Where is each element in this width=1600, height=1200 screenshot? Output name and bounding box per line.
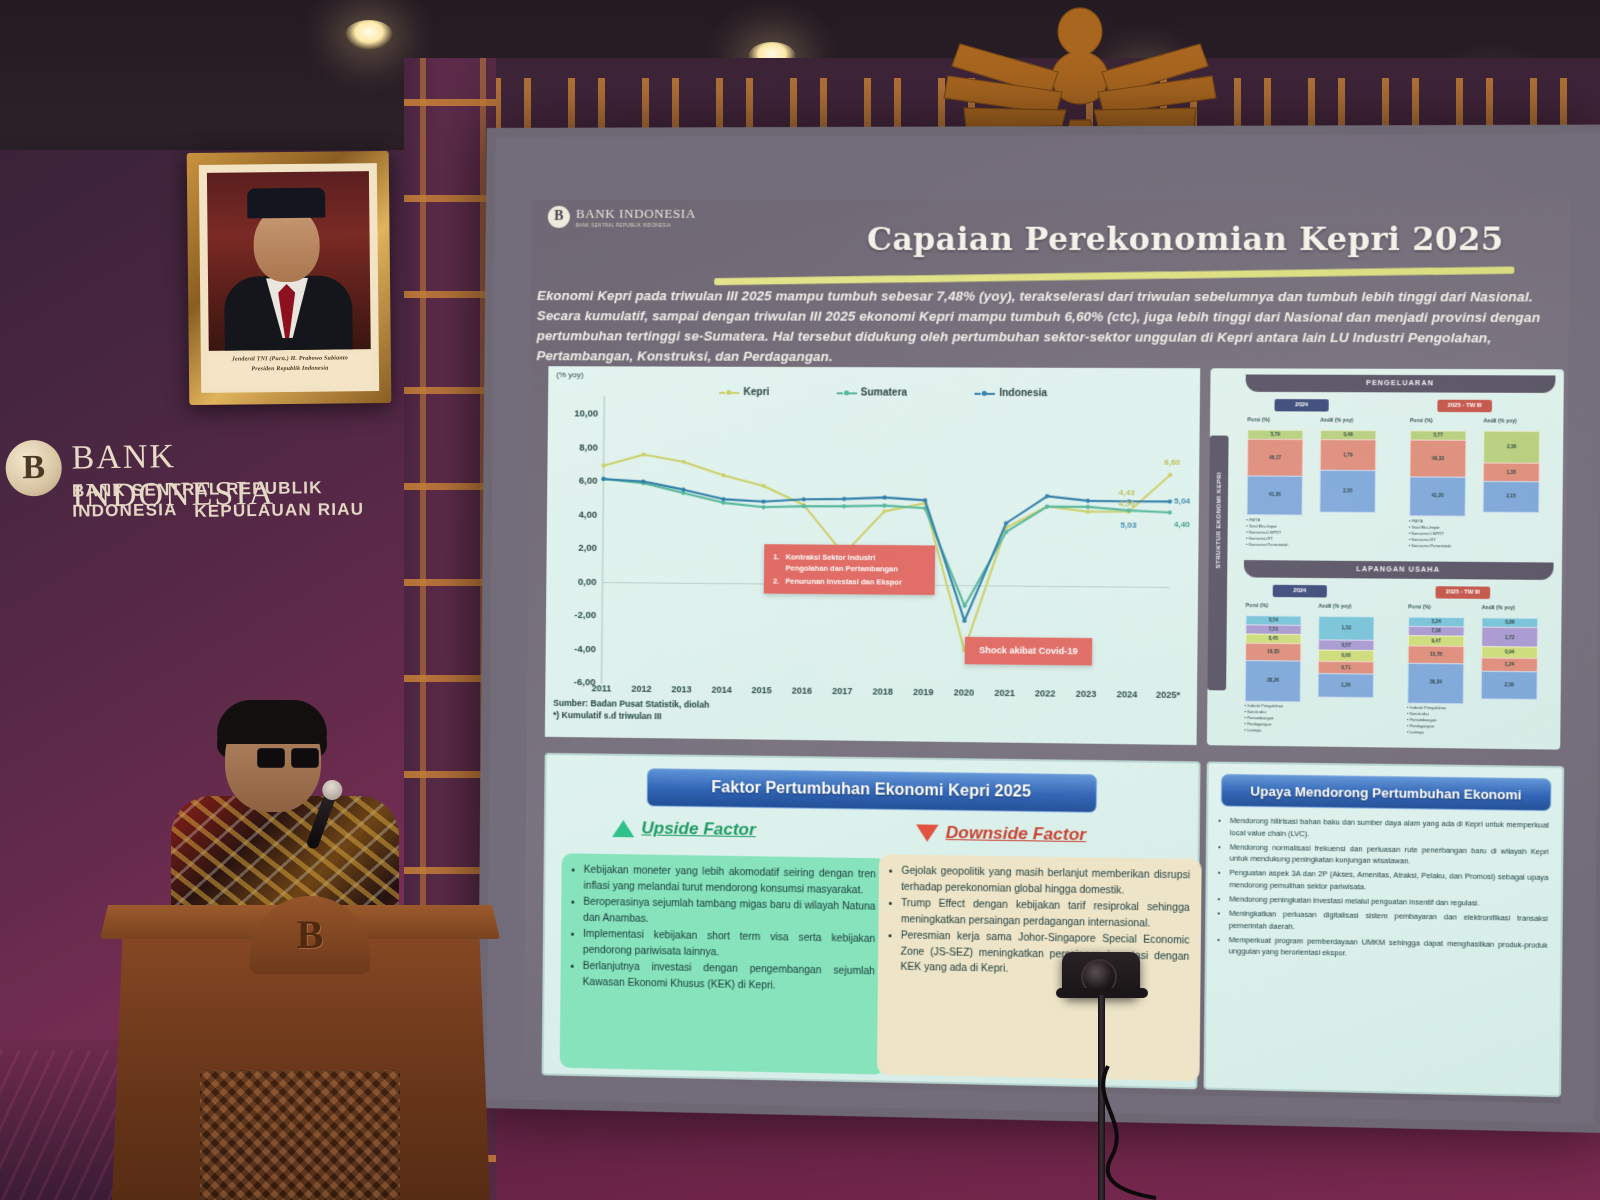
structure-legend-item: ▪ Total Eks-Impor: [1246, 523, 1277, 528]
stack-segment-label: 2,36: [1482, 672, 1537, 699]
upside-factor-heading: Upside Factor: [612, 818, 756, 840]
data-point: [761, 505, 765, 509]
data-point: [681, 460, 685, 464]
annotation-kontraksi-num1: 1.: [772, 550, 785, 574]
downside-factor-item: Gejolak geopolitik yang masih berlanjut …: [901, 864, 1190, 900]
data-point: [842, 497, 846, 501]
stack-segment: 1,26: [1317, 673, 1374, 698]
data-point: [802, 497, 806, 501]
downside-factor-list: Gejolak geopolitik yang masih berlanjut …: [889, 863, 1190, 980]
stack-segment: 2,15: [1483, 481, 1540, 513]
structure-legend: ▪ PMTB▪ Total Eks-Impor▪ Konsumsi LNPRT▪…: [1246, 517, 1392, 549]
stack-segment: 2,36: [1481, 671, 1538, 700]
data-point: [601, 477, 605, 481]
end-value-label: 5,03: [1120, 521, 1137, 530]
upside-factor-box: Kebijakan moneter yang lebih akomodatif …: [560, 853, 888, 1074]
stack-segment-label: 40,17: [1248, 440, 1302, 477]
annotation-kontraksi-text1: Kontraksi Sektor Industri Pengolahan dan…: [784, 550, 903, 575]
upside-factor-item: Kebijakan moneter yang lebih akomodatif …: [583, 863, 875, 899]
data-point: [642, 452, 646, 456]
efforts-item: Meningkatkan perluasan digitalisasi sist…: [1229, 908, 1548, 937]
annotation-kontraksi-num2: 2.: [772, 574, 784, 587]
data-point: [882, 509, 886, 513]
data-point: [1086, 499, 1090, 503]
end-value-label: 4,43: [1119, 488, 1136, 497]
stack-segment-label: 1,33: [1319, 617, 1373, 641]
annotation-kontraksi-text2: Penurunan Investasi dan Ekspor: [784, 575, 903, 589]
data-point: [681, 488, 685, 492]
y-axis-line: [602, 396, 605, 683]
downside-triangle-icon: [916, 824, 939, 842]
annotation-kontraksi: 1. Kontraksi Sektor Industri Pengolahan …: [764, 544, 935, 595]
end-value-label: 4,40: [1174, 520, 1191, 529]
period-chip: 2025 - TW III: [1437, 400, 1492, 413]
mini-axis-label: Andil (% yoy): [1320, 418, 1353, 424]
glasses-right-lens: [291, 748, 319, 768]
growth-factors-header: Faktor Pertumbuhan Ekonomi Kepri 2025: [647, 768, 1097, 813]
structure-legend-item: ▪ Lainnya: [1407, 729, 1424, 734]
structure-legend-item: ▪ Pertambangan: [1407, 717, 1436, 722]
stack-segment-label: 2,15: [1484, 482, 1539, 512]
structure-legend-item: ▪ Konsumsi Pemerintah: [1246, 542, 1288, 547]
stack-segment: 1,79: [1320, 439, 1377, 472]
stack-segment: 41,36: [1246, 475, 1303, 515]
efforts-item: Memperkuat program pemberdayaan UMKM seh…: [1229, 934, 1548, 963]
upside-factor-item: Implementasi kebijakan short term visa s…: [583, 927, 875, 963]
stack-segment-label: 1,35: [1484, 464, 1539, 483]
stack-segment-label: 2,35: [1320, 471, 1375, 512]
stack-segment-label: 1,72: [1482, 628, 1537, 648]
mini-axis-label: Porsi (%): [1408, 604, 1431, 610]
data-point: [962, 619, 966, 623]
annotation-covid: Shock akibat Covid-19: [965, 637, 1093, 666]
structure-legend: ▪ Industri Pengolahan▪ Konstruksi▪ Perta…: [1407, 705, 1554, 738]
stack-segment: 2,36: [1483, 431, 1540, 466]
mini-axis-label: Porsi (%): [1247, 417, 1270, 423]
data-point: [1086, 510, 1090, 514]
structure-legend-item: ▪ Perdagangan: [1407, 723, 1434, 728]
upside-factor-label: Upside Factor: [641, 818, 756, 840]
downside-factor-box: Gejolak geopolitik yang masih berlanjut …: [877, 854, 1202, 1081]
stack-segment-label: 38,26: [1246, 661, 1300, 702]
structure-legend-item: ▪ Lainnya: [1244, 727, 1261, 732]
data-point: [882, 495, 886, 499]
portrait-caption-role: Presiden Republik Indonesia: [209, 363, 371, 375]
slide-brand-subtitle: BANK SENTRAL REPUBLIK INDONESIA: [576, 223, 696, 228]
presidential-portrait-frame: Jenderal TNI (Purn.) H. Prabowo Subianto…: [187, 151, 392, 405]
mini-axis-label: Andil (% yoy): [1318, 604, 1351, 610]
structure-legend-item: ▪ Konsumsi RT: [1409, 537, 1436, 542]
end-value-label: 6,60: [1164, 458, 1181, 467]
period-chip: 2024: [1275, 399, 1329, 411]
data-point: [1004, 530, 1008, 534]
period-chip: 2025 - TW III: [1436, 586, 1491, 599]
structure-legend-item: ▪ Industri Pengolahan: [1245, 703, 1284, 709]
stack-segment-label: 40,33: [1411, 441, 1466, 478]
structure-legend-item: ▪ PMTB: [1246, 517, 1260, 522]
stack-segment: 41,20: [1409, 476, 1466, 516]
upside-triangle-icon: [612, 819, 634, 836]
upside-factor-item: Beroperasinya sejumlah tambang migas bar…: [583, 895, 875, 931]
data-point: [1045, 505, 1049, 509]
stack-segment: 40,17: [1247, 439, 1304, 478]
end-value-label: 4,50: [1119, 499, 1136, 508]
efforts-item: Mendorong hilirisasi bahan baku dan sumb…: [1230, 815, 1549, 843]
structure-legend-item: ▪ Konsumsi Pemerintah: [1409, 543, 1452, 548]
data-point: [923, 498, 927, 502]
slide-lead-paragraph: Ekonomi Kepri pada triwulan III 2025 mam…: [536, 286, 1564, 369]
stack-segment: 40,33: [1409, 440, 1466, 479]
economic-structure-panel: STRUKTUR EKONOMI KEPRI PENGELUARAN2024Po…: [1207, 368, 1564, 749]
structure-vertical-tab: STRUKTUR EKONOMI KEPRI: [1207, 435, 1228, 690]
podium-monogram: B: [250, 896, 370, 974]
structure-legend-item: ▪ PMTB: [1409, 518, 1423, 523]
stack-segment-label: 16,35: [1246, 644, 1300, 662]
data-point: [1168, 499, 1172, 503]
upside-factor-list: Kebijakan moneter yang lebih akomodatif …: [571, 862, 875, 995]
bank-indonesia-wall-logo: B BANK INDONESIA BANK SENTRAL REPUBLIK I…: [5, 429, 367, 546]
data-point: [721, 497, 725, 501]
efforts-panel: Upaya Mendorong Pertumbuhan Ekonomi Mend…: [1204, 761, 1565, 1097]
chart-source: Sumber: Badan Pusat Statistik, diolah *)…: [553, 697, 709, 723]
data-point: [882, 503, 886, 507]
bi-monogram: B: [5, 440, 62, 497]
stack-segment-label: 15,78: [1409, 646, 1464, 664]
structure-sections: PENGELUARAN2024Porsi (%)5,7940,1741,36An…: [1211, 368, 1564, 369]
stack-segment-label: 41,20: [1410, 477, 1465, 515]
structure-legend-item: ▪ Konsumsi LNPRT: [1246, 529, 1281, 534]
downside-factor-item: Peresmian kerja sama Johor-Singapore Spe…: [900, 928, 1189, 980]
speaker-glasses-icon: [257, 748, 319, 766]
efforts-item: Mendorong normalisasi frekuensi dan perl…: [1230, 841, 1549, 870]
camera-cable: [1060, 1060, 1230, 1200]
slide-brand-name: BANK INDONESIA: [576, 206, 696, 222]
stack-segment-label: 2,36: [1484, 432, 1539, 465]
stack-segment: 1,33: [1318, 616, 1375, 642]
structure-legend-item: ▪ Konstruksi: [1245, 709, 1266, 714]
stack-segment-label: 1,79: [1321, 440, 1376, 471]
speaker-hair-top: [217, 700, 327, 744]
portrait-peci: [247, 188, 325, 219]
structure-legend-item: ▪ Konstruksi: [1407, 711, 1429, 716]
structure-section-header: PENGELUARAN: [1246, 374, 1556, 392]
end-value-label: 5,04: [1174, 496, 1191, 505]
mini-axis-label: Porsi (%): [1410, 418, 1433, 424]
structure-legend-item: ▪ Total Eks-Impor: [1409, 525, 1440, 530]
efforts-item: Penguatan aspek 3A dan 2P (Akses, Amenit…: [1229, 867, 1548, 896]
structure-legend-item: ▪ Perdagangan: [1244, 721, 1271, 726]
chart-source-line2: *) Kumulatif s.d triwulan III: [553, 709, 709, 723]
presentation-room-photo: Jenderal TNI (Purn.) H. Prabowo Subianto…: [0, 0, 1600, 1200]
downside-factor-heading: Downside Factor: [916, 822, 1086, 845]
portrait-caption: Jenderal TNI (Purn.) H. Prabowo Subianto…: [209, 353, 371, 387]
period-chip: 2024: [1273, 585, 1327, 598]
portrait-image: [207, 171, 371, 351]
upside-factor-item: Berlanjutnya investasi dengan pengembang…: [583, 959, 875, 996]
structure-vertical-tab-label: STRUKTUR EKONOMI KEPRI: [1214, 550, 1221, 568]
efforts-list: Mendorong hilirisasi bahan baku dan sumb…: [1217, 815, 1549, 964]
data-point: [1127, 508, 1131, 512]
slide-brand-mark: B BANK INDONESIA BANK SENTRAL REPUBLIK I…: [548, 206, 696, 228]
structure-legend-item: ▪ Pertambangan: [1244, 715, 1273, 720]
data-point: [842, 504, 846, 508]
data-point: [1086, 505, 1090, 509]
data-point: [761, 499, 765, 503]
title-underline-rule: [714, 266, 1514, 285]
mini-axis-label: Andil (% yoy): [1483, 418, 1516, 424]
data-point: [1004, 521, 1008, 525]
structure-legend-item: ▪ Konsumsi LNPRT: [1409, 531, 1444, 536]
projection-screen: B BANK INDONESIA BANK SENTRAL REPUBLIK I…: [477, 125, 1600, 1133]
growth-line-chart: (% yoy) KepriSumateraIndonesia 10,008,00…: [545, 366, 1200, 745]
downside-factor-label: Downside Factor: [946, 823, 1087, 845]
structure-legend-item: ▪ Industri Pengolahan: [1407, 705, 1446, 711]
data-point: [721, 473, 725, 477]
stack-segment: 2,35: [1319, 470, 1376, 513]
podium-crest: B: [250, 896, 370, 974]
structure-section-header: LAPANGAN USAHA: [1244, 560, 1554, 580]
data-point: [641, 479, 645, 483]
wall-logo-line3: KEPULAUAN RIAU: [194, 500, 364, 522]
data-point: [1168, 473, 1172, 477]
data-point: [1168, 510, 1172, 514]
mini-axis-label: Porsi (%): [1246, 603, 1269, 609]
video-camera: [1062, 952, 1140, 998]
stack-segment: 38,26: [1245, 660, 1302, 703]
stack-segment: 36,34: [1407, 662, 1464, 704]
bi-seal-icon: B: [5, 440, 62, 497]
structure-legend: ▪ Industri Pengolahan▪ Konstruksi▪ Perta…: [1244, 703, 1390, 735]
downside-factor-item: Trump Effect dengan kebijakan tarif resi…: [901, 896, 1190, 932]
podium-carved-panel: [200, 1070, 400, 1200]
structure-legend: ▪ PMTB▪ Total Eks-Impor▪ Konsumsi LNPRT▪…: [1409, 518, 1556, 550]
stack-segment-label: 36,34: [1408, 663, 1463, 703]
glasses-left-lens: [257, 748, 285, 768]
data-point: [762, 484, 766, 488]
data-point: [1045, 494, 1049, 498]
efforts-panel-header: Upaya Mendorong Pertumbuhan Ekonomi: [1221, 774, 1552, 811]
data-point: [962, 604, 966, 608]
stack-segment-label: 1,26: [1319, 674, 1373, 697]
slide-title: Capaian Perekonomian Kepri 2025: [834, 221, 1538, 258]
mini-axis-label: Andil (% yoy): [1482, 605, 1515, 611]
slide-canvas: B BANK INDONESIA BANK SENTRAL REPUBLIK I…: [524, 199, 1570, 1104]
stack-segment-label: 41,36: [1248, 476, 1302, 514]
portrait-mat: Jenderal TNI (Purn.) H. Prabowo Subianto…: [199, 163, 379, 393]
structure-legend-item: ▪ Konsumsi RT: [1246, 536, 1273, 541]
data-point: [602, 463, 606, 467]
slide-bi-logo-icon: B: [548, 206, 570, 228]
ceiling-light: [345, 20, 393, 50]
data-point: [802, 504, 806, 508]
